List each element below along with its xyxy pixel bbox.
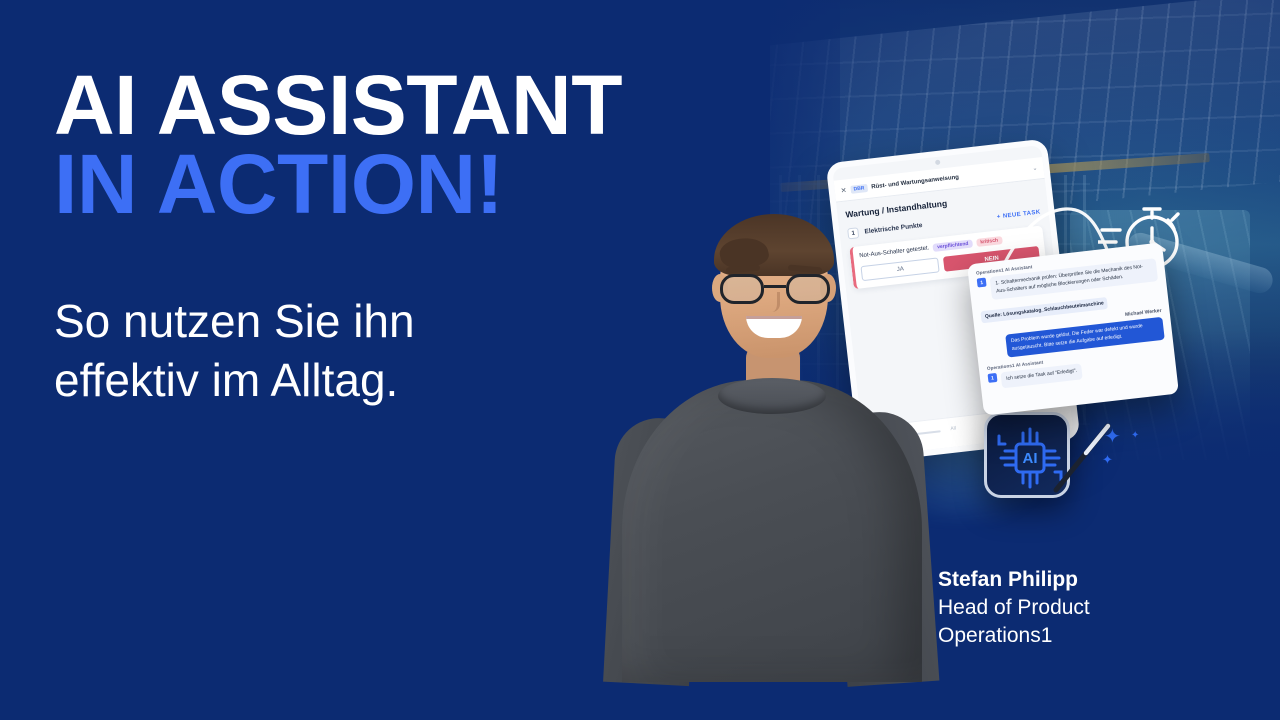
chevron-down-icon[interactable]: ⌄ — [1032, 165, 1038, 173]
speaker-role-line-2: Operations1 — [938, 622, 1238, 650]
ai-chip-label: AI — [1023, 450, 1038, 467]
footer-left-label: All — [950, 425, 956, 432]
subtitle: So nutzen Sie ihn effektiv im Alltag. — [54, 292, 614, 410]
speaker-name: Stefan Philipp — [938, 566, 1238, 594]
speaker-caption: Stefan Philipp Head of Product Operation… — [938, 566, 1238, 650]
speaker-role-line-1: Head of Product — [938, 594, 1238, 622]
subtitle-line-2: effektiv im Alltag. — [54, 351, 614, 410]
headline-line-1: AI ASSISTANT — [54, 66, 774, 145]
subtitle-line-1: So nutzen Sie ihn — [54, 292, 614, 351]
assistant-avatar-2: 1 — [988, 373, 998, 383]
glasses-icon — [718, 274, 832, 304]
sparkle-icon-1: ✦ — [1104, 424, 1121, 449]
sparkle-icon-2: ✦ — [1131, 430, 1139, 441]
speaker-portrait — [600, 182, 942, 682]
sparkle-icon-3: ✦ — [1102, 452, 1113, 468]
title-slide: AI ASSISTANT IN ACTION! So nutzen Sie ih… — [0, 0, 1280, 720]
portrait-collar — [718, 378, 826, 414]
tablet-camera-icon — [934, 160, 940, 166]
portrait-torso — [622, 380, 922, 682]
assistant-avatar: 1 — [977, 278, 987, 288]
ai-assistant-chat-panel: Operations1 AI Assistant 1 1. Schalterme… — [967, 242, 1179, 415]
